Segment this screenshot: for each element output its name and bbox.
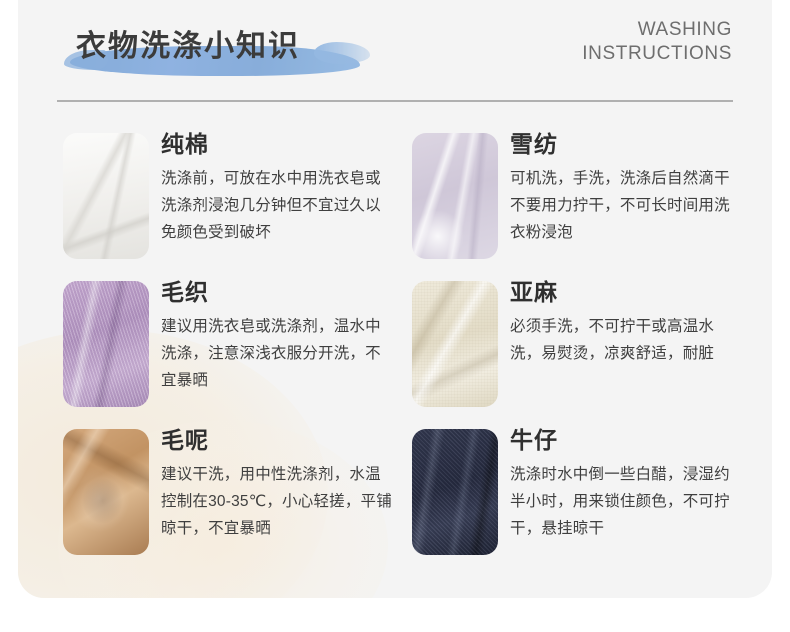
header-divider [57,100,733,102]
english-subtitle: WASHING INSTRUCTIONS [412,18,732,66]
content-card: 衣物洗涤小知识 WASHING INSTRUCTIONS 纯棉 洗涤前，可放在水… [18,0,772,598]
washing-instructions-page: 衣物洗涤小知识 WASHING INSTRUCTIONS 纯棉 洗涤前，可放在水… [0,0,790,632]
card-title: 牛仔 [510,425,742,455]
card-title: 毛呢 [161,425,393,455]
card-title: 雪纺 [510,129,742,159]
english-subtitle-line1: WASHING [412,18,732,42]
card-body: 牛仔 洗涤时水中倒一些白醋，浸湿约半小时，用来锁住颜色，不可拧干，悬挂晾干 [510,425,742,542]
card-description: 必须手洗，不可拧干或高温水洗，易熨烫，凉爽舒适，耐脏 [510,313,742,367]
chiffon-fabric-swatch [412,133,498,259]
card-title: 毛织 [161,277,393,307]
card-description: 建议用洗衣皂或洗涤剂，温水中洗涤，注意深浅衣服分开洗，不宜暴晒 [161,313,393,394]
cotton-fabric-swatch [63,133,149,259]
page-title: 衣物洗涤小知识 [70,16,300,78]
linen-fabric-swatch [412,281,498,407]
card-description: 洗涤时水中倒一些白醋，浸湿约半小时，用来锁住颜色，不可拧干，悬挂晾干 [510,461,742,542]
card-title: 亚麻 [510,277,742,307]
fabric-card-denim: 牛仔 洗涤时水中倒一些白醋，浸湿约半小时，用来锁住颜色，不可拧干，悬挂晾干 [412,429,742,557]
fabric-card-chiffon: 雪纺 可机洗，手洗，洗涤后自然滴干不要用力拧干，不可长时间用洗衣粉浸泡 [412,133,742,261]
page-header: 衣物洗涤小知识 WASHING INSTRUCTIONS [18,0,772,100]
wool-fabric-swatch [63,429,149,555]
card-body: 雪纺 可机洗，手洗，洗涤后自然滴干不要用力拧干，不可长时间用洗衣粉浸泡 [510,129,742,246]
fabric-card-wool-tweed: 毛呢 建议干洗，用中性洗涤剂，水温控制在30-35℃，小心轻搓，平铺晾干，不宜暴… [63,429,393,557]
card-description: 洗涤前，可放在水中用洗衣皂或洗涤剂浸泡几分钟但不宜过久以免颜色受到破坏 [161,165,393,246]
card-body: 毛织 建议用洗衣皂或洗涤剂，温水中洗涤，注意深浅衣服分开洗，不宜暴晒 [161,277,393,394]
title-with-brush: 衣物洗涤小知识 [70,16,300,78]
english-subtitle-line2: INSTRUCTIONS [412,42,732,66]
card-body: 毛呢 建议干洗，用中性洗涤剂，水温控制在30-35℃，小心轻搓，平铺晾干，不宜暴… [161,425,393,542]
denim-fabric-swatch [412,429,498,555]
fabric-card-linen: 亚麻 必须手洗，不可拧干或高温水洗，易熨烫，凉爽舒适，耐脏 [412,281,742,409]
card-title: 纯棉 [161,129,393,159]
card-description: 建议干洗，用中性洗涤剂，水温控制在30-35℃，小心轻搓，平铺晾干，不宜暴晒 [161,461,393,542]
card-body: 亚麻 必须手洗，不可拧干或高温水洗，易熨烫，凉爽舒适，耐脏 [510,277,742,367]
knit-fabric-swatch [63,281,149,407]
fabric-card-cotton: 纯棉 洗涤前，可放在水中用洗衣皂或洗涤剂浸泡几分钟但不宜过久以免颜色受到破坏 [63,133,393,261]
card-body: 纯棉 洗涤前，可放在水中用洗衣皂或洗涤剂浸泡几分钟但不宜过久以免颜色受到破坏 [161,129,393,246]
fabric-card-wool-knit: 毛织 建议用洗衣皂或洗涤剂，温水中洗涤，注意深浅衣服分开洗，不宜暴晒 [63,281,393,409]
card-description: 可机洗，手洗，洗涤后自然滴干不要用力拧干，不可长时间用洗衣粉浸泡 [510,165,742,246]
